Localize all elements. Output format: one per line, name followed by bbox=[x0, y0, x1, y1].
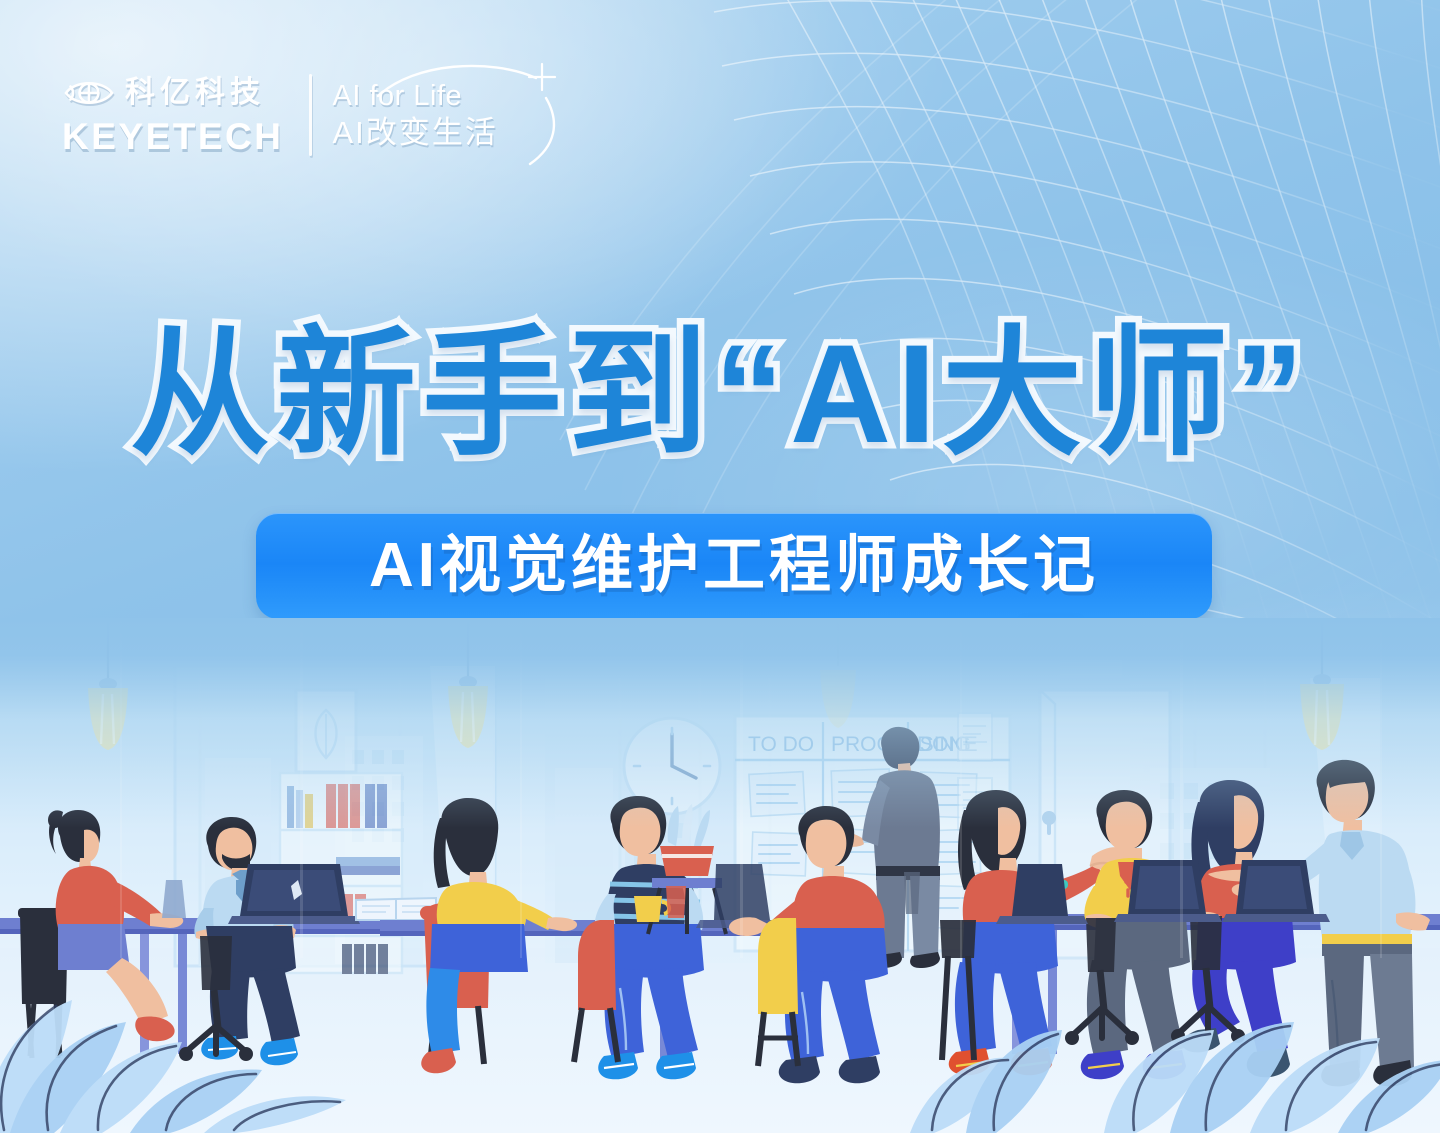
hero-title: 从新手到“AI大师” bbox=[0, 318, 1440, 469]
logo-divider bbox=[309, 74, 312, 156]
hero-subtitle-banner: AI视觉维护工程师成长记 bbox=[256, 513, 1212, 619]
brand-name-en: KEYETECH bbox=[62, 118, 283, 155]
brand-name-block: 科亿科技 KEYETECH bbox=[62, 75, 283, 155]
laptop-left-1 bbox=[228, 864, 360, 924]
hero-subtitle-text: AI视觉维护工程师成长记 bbox=[369, 535, 1099, 597]
laptop-left-2 bbox=[162, 880, 186, 918]
brand-logo[interactable]: 科亿科技 KEYETECH AI for Life AI改变生活 bbox=[62, 74, 568, 156]
office-scene-svg: TO DO PROCESSING DONE bbox=[0, 618, 1440, 1133]
red-cup bbox=[666, 886, 686, 918]
brand-slogan-block: AI for Life AI改变生活 bbox=[332, 82, 567, 148]
eye-lens-icon bbox=[62, 75, 116, 111]
poster-canvas: 科亿科技 KEYETECH AI for Life AI改变生活 从新手到“AI… bbox=[0, 0, 1440, 1133]
wall-picture-frame bbox=[296, 690, 356, 772]
office-illustration: TO DO PROCESSING DONE bbox=[0, 618, 1440, 1133]
kanban-col-todo: TO DO bbox=[748, 733, 814, 756]
swoosh-arc-icon bbox=[370, 56, 580, 171]
brand-name-cn: 科亿科技 bbox=[125, 78, 265, 108]
